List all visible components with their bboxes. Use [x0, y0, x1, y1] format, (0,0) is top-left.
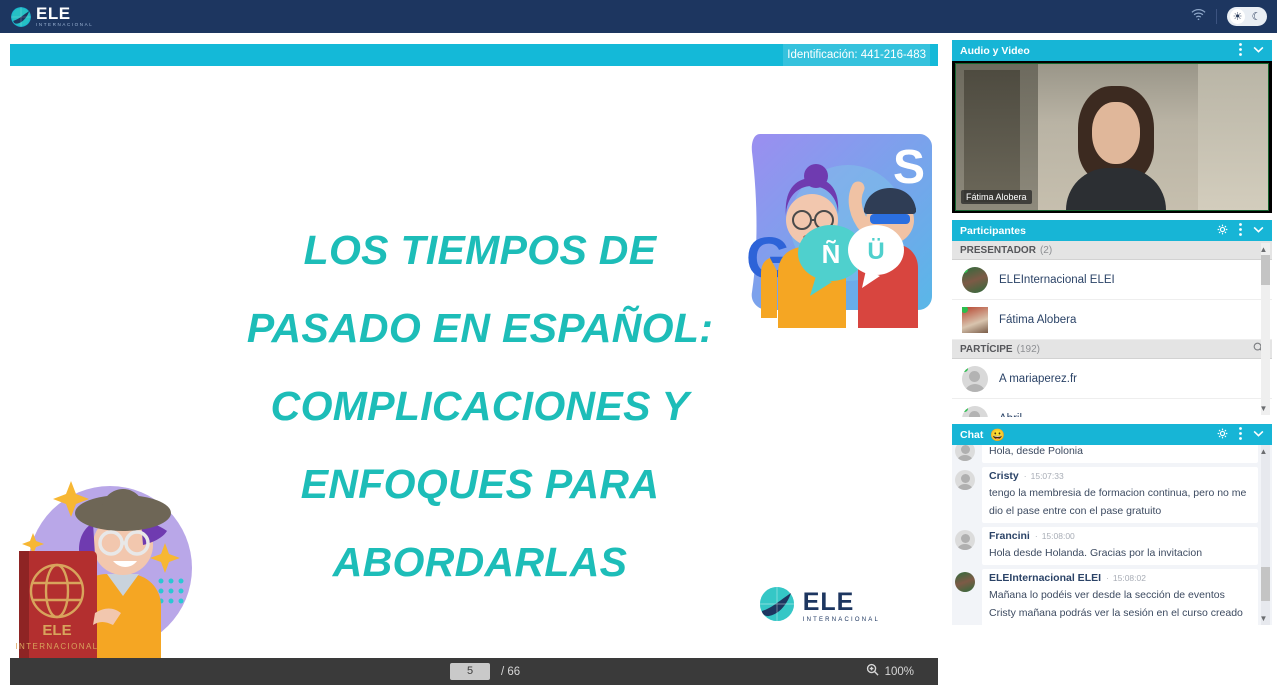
scroll-up-icon[interactable]: ▲: [1258, 446, 1269, 457]
participant-name: ELEInternacional ELEI: [999, 274, 1115, 286]
page-total-label: / 66: [501, 666, 520, 678]
right-sidebar: Audio y Video: [952, 40, 1272, 632]
chat-message: ELEInternacional ELEI 15:08:02 Mañana lo…: [955, 569, 1258, 625]
brand-name: ELE: [36, 5, 93, 22]
chat-message: Hola, desde Polonia: [955, 445, 1258, 463]
speaker-body: [1066, 168, 1166, 211]
participants-title: Participantes: [960, 225, 1026, 237]
slide-logo-subtitle: INTERNACIONAL: [803, 617, 880, 623]
zoom-icon[interactable]: [866, 663, 879, 681]
participants-group-header: PRESENTADOR (2): [952, 241, 1272, 260]
online-status-dot: [962, 406, 968, 412]
participants-list[interactable]: PRESENTADOR (2) ELEInternacional ELEI Fá…: [952, 241, 1272, 417]
slide-logo-text: ELE INTERNACIONAL: [803, 590, 880, 623]
message-header: ELEInternacional ELEI 15:08:02: [989, 572, 1251, 584]
video-door: [964, 70, 1020, 202]
avatar: [962, 406, 988, 418]
smiley-icon[interactable]: 😀: [990, 429, 1005, 441]
theme-toggle[interactable]: ☀ ☾: [1227, 7, 1267, 26]
avatar: [962, 307, 988, 333]
participant-row[interactable]: Fátima Alobera: [952, 300, 1272, 340]
webinar-app: ELE INTERNACIONAL ☀ ☾ Identificació: [0, 0, 1277, 695]
chat-actions: [1217, 427, 1264, 443]
scroll-down-icon[interactable]: ▼: [1258, 613, 1269, 624]
svg-text:Ü: Ü: [867, 238, 884, 265]
message-bubble: Hola, desde Polonia: [982, 445, 1258, 463]
chat-messages[interactable]: Hola, desde Polonia Cristy 15:07:33 teng…: [952, 445, 1272, 625]
avatar: [955, 530, 975, 550]
globe-icon: [10, 6, 32, 28]
kebab-menu-icon[interactable]: [1239, 43, 1242, 59]
identification-bar: Identificación: 441-216-483: [10, 44, 938, 66]
message-header: Francini 15:08:00: [989, 530, 1251, 542]
sun-icon[interactable]: ☀: [1230, 9, 1245, 24]
participants-scroll-thumb[interactable]: [1261, 255, 1270, 285]
slide-logo: ELE INTERNACIONAL: [758, 585, 880, 628]
chat-scroll-thumb[interactable]: [1261, 567, 1270, 601]
scroll-up-icon[interactable]: ▲: [1258, 244, 1269, 255]
top-navbar: ELE INTERNACIONAL ☀ ☾: [0, 0, 1277, 33]
speaker-face: [1092, 102, 1140, 164]
brand-logo[interactable]: ELE INTERNACIONAL: [10, 5, 93, 28]
avatar: [955, 572, 975, 592]
message-timestamp: 15:07:33: [1024, 471, 1064, 481]
brand-subtitle: INTERNACIONAL: [36, 23, 93, 28]
participant-row[interactable]: Abril: [952, 399, 1272, 417]
online-status-dot: [962, 267, 968, 273]
page-number-input[interactable]: [450, 663, 490, 680]
video-name-label: Fátima Alobera: [961, 190, 1032, 204]
online-status-dot: [962, 366, 968, 372]
slide-title-line: LOS TIEMPOS DE: [130, 211, 830, 289]
kebab-menu-icon[interactable]: [1239, 223, 1242, 239]
message-bubble: Cristy 15:07:33 tengo la membresia de fo…: [982, 467, 1258, 523]
video-feed: Fátima Alobera: [955, 63, 1269, 211]
online-status-dot: [962, 307, 968, 313]
chevron-down-icon[interactable]: [1253, 429, 1264, 440]
video-background-right: [1198, 64, 1268, 210]
participants-panel: Participantes: [952, 220, 1272, 417]
message-timestamp: 15:08:00: [1035, 531, 1075, 541]
moon-icon[interactable]: ☾: [1249, 9, 1264, 24]
message-timestamp: 15:08:02: [1106, 573, 1146, 583]
slide-title-line: ABORDARLAS: [130, 523, 830, 601]
slide-title-line: ENFOQUES PARA: [130, 445, 830, 523]
participant-row[interactable]: ELEInternacional ELEI: [952, 260, 1272, 300]
svg-text:INTERNACIONAL: INTERNACIONAL: [15, 642, 98, 651]
chat-title: Chat: [960, 429, 983, 441]
group-label: PRESENTADOR: [960, 245, 1036, 256]
slide-canvas[interactable]: G S Z: [10, 66, 938, 658]
participants-group-header: PARTÍCIPE (192): [952, 340, 1272, 359]
brand-text: ELE INTERNACIONAL: [36, 5, 93, 28]
svg-text:ELE: ELE: [42, 622, 71, 639]
message-text: Mañana lo podéis ver desde la sección de…: [989, 589, 1225, 601]
chat-message: Cristy 15:07:33 tengo la membresia de fo…: [955, 467, 1258, 523]
audio-video-actions: [1239, 43, 1264, 59]
message-bubble: Francini 15:08:00 Hola desde Holanda. Gr…: [982, 527, 1258, 565]
gear-icon[interactable]: [1217, 428, 1228, 442]
participant-name: Abril: [999, 413, 1022, 418]
zoom-control[interactable]: 100%: [866, 663, 914, 681]
participants-actions: [1217, 223, 1264, 239]
svg-text:S: S: [893, 141, 925, 194]
identification-label: Identificación: 441-216-483: [783, 44, 930, 66]
message-text: Cristy mañana podrás ver la sesión en el…: [989, 607, 1243, 625]
message-bubble: ELEInternacional ELEI 15:08:02 Mañana lo…: [982, 569, 1258, 625]
message-header: Cristy 15:07:33: [989, 470, 1251, 482]
navbar-divider: [1216, 9, 1217, 24]
globe-icon: [758, 585, 798, 628]
message-text: tengo la membresia de formacion continua…: [989, 487, 1246, 517]
message-author: Francini: [989, 530, 1030, 542]
message-author: ELEInternacional ELEI: [989, 572, 1101, 584]
chat-header: Chat 😀: [952, 424, 1272, 445]
slide-logo-name: ELE: [803, 590, 880, 615]
kebab-menu-icon[interactable]: [1239, 427, 1242, 443]
chat-message: Francini 15:08:00 Hola desde Holanda. Gr…: [955, 527, 1258, 565]
slide-toolbar: / 66 100%: [10, 658, 938, 685]
presentation-stage: Identificación: 441-216-483 G S Z: [0, 33, 948, 695]
participant-name: Fátima Alobera: [999, 314, 1076, 326]
zoom-level-label: 100%: [885, 666, 914, 678]
slide-title-line: PASADO EN ESPAÑOL:: [130, 289, 830, 367]
chevron-down-icon[interactable]: [1253, 225, 1264, 236]
audio-video-title: Audio y Video: [960, 45, 1030, 57]
group-label: PARTÍCIPE: [960, 344, 1013, 355]
message-text: Hola desde Holanda. Gracias por la invit…: [989, 547, 1202, 559]
group-count: (2): [1040, 245, 1052, 256]
chevron-down-icon[interactable]: [1253, 45, 1264, 56]
wifi-icon[interactable]: [1191, 8, 1206, 26]
slide-title-line: COMPLICACIONES Y: [130, 367, 830, 445]
avatar: [962, 267, 988, 293]
navbar-actions: ☀ ☾: [1191, 7, 1267, 26]
avatar: [955, 445, 975, 461]
group-count: (192): [1017, 344, 1040, 355]
gear-icon[interactable]: [1217, 224, 1228, 238]
video-speaker: [1064, 86, 1168, 211]
avatar: [962, 366, 988, 392]
message-text: Hola, desde Polonia: [989, 445, 1083, 457]
participant-name: A mariaperez.fr: [999, 373, 1077, 385]
slide-title: LOS TIEMPOS DE PASADO EN ESPAÑOL: COMPLI…: [130, 211, 830, 601]
chat-panel: Chat 😀: [952, 424, 1272, 625]
participants-header: Participantes: [952, 220, 1272, 241]
video-tile[interactable]: Fátima Alobera: [952, 61, 1272, 213]
message-author: Cristy: [989, 470, 1019, 482]
participant-row[interactable]: A mariaperez.fr: [952, 359, 1272, 399]
avatar: [955, 470, 975, 490]
audio-video-header: Audio y Video: [952, 40, 1272, 61]
audio-video-panel: Audio y Video: [952, 40, 1272, 213]
woman-passport-illustration: ELE INTERNACIONAL: [15, 473, 205, 658]
scroll-down-icon[interactable]: ▼: [1258, 403, 1269, 414]
